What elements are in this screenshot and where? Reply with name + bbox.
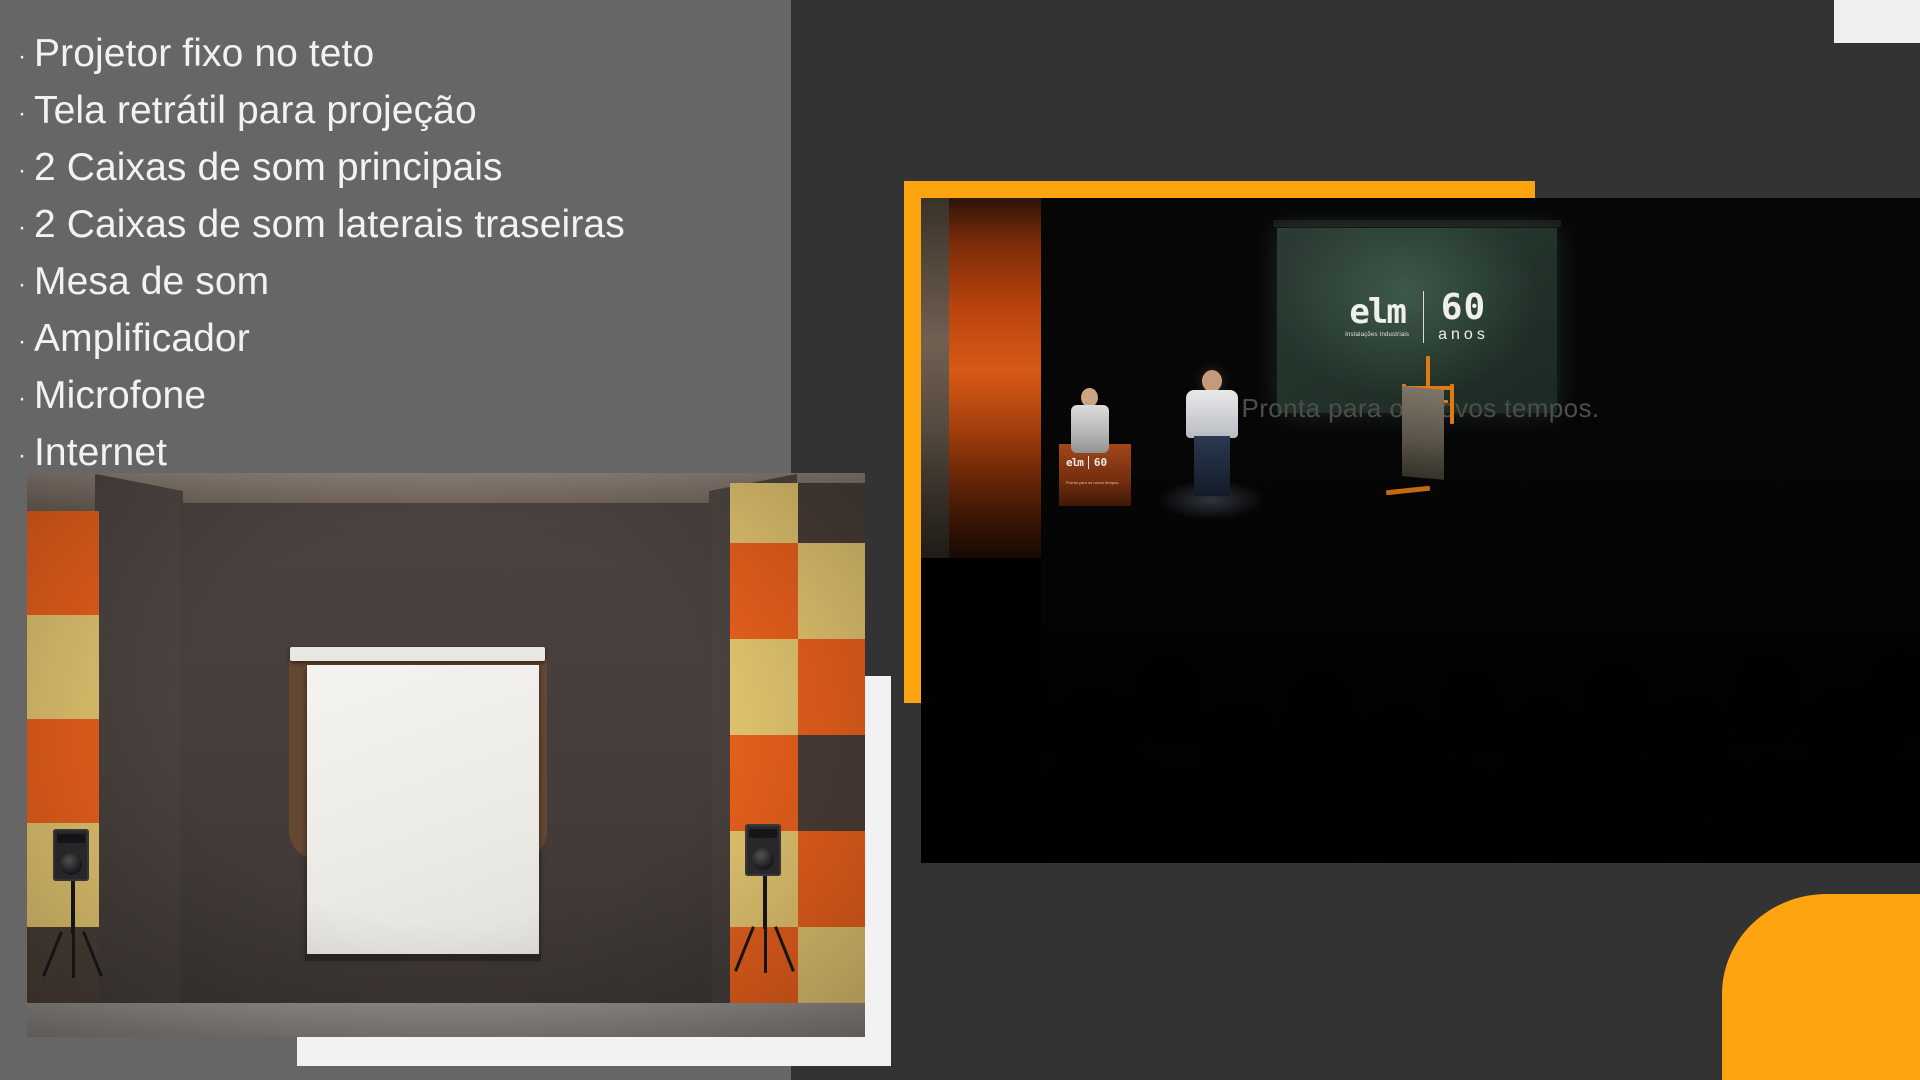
list-item: · Amplificador [18,313,788,370]
list-item: · 2 Caixas de som principais [18,142,788,199]
presentation-slide: · Projetor fixo no teto · Tela retrátil … [0,0,1920,1080]
list-item: · Mesa de som [18,256,788,313]
list-item: · Tela retrátil para projeção [18,85,788,142]
list-item: · 2 Caixas de som laterais traseiras [18,199,788,256]
photo-shadow-overlay [921,198,1920,863]
bullet-marker-icon: · [18,88,34,140]
bullet-marker-icon: · [18,316,34,368]
bullet-marker-icon: · [18,373,34,425]
list-item-label: Microfone [34,370,206,422]
bullet-marker-icon: · [18,145,34,197]
photo-vignette [27,473,865,1037]
list-item-label: Tela retrátil para projeção [34,85,477,137]
bullet-marker-icon: · [18,259,34,311]
top-right-white-accent [1834,0,1920,43]
list-item-label: Projetor fixo no teto [34,28,374,80]
list-item: · Microfone [18,370,788,427]
list-item-label: Amplificador [34,313,250,365]
bullet-marker-icon: · [18,202,34,254]
list-item: · Projetor fixo no teto [18,28,788,85]
event-photo: elm Instalações Industriais 60 anos Pron… [921,198,1920,863]
list-item-label: 2 Caixas de som laterais traseiras [34,199,625,251]
equipment-bullet-list: · Projetor fixo no teto · Tela retrátil … [18,28,788,484]
list-item-label: 2 Caixas de som principais [34,142,503,194]
list-item-label: Internet [34,427,167,479]
bullet-marker-icon: · [18,31,34,83]
auditorium-photo [27,473,865,1037]
list-item-label: Mesa de som [34,256,269,308]
bottom-right-orange-accent [1722,894,1920,1080]
